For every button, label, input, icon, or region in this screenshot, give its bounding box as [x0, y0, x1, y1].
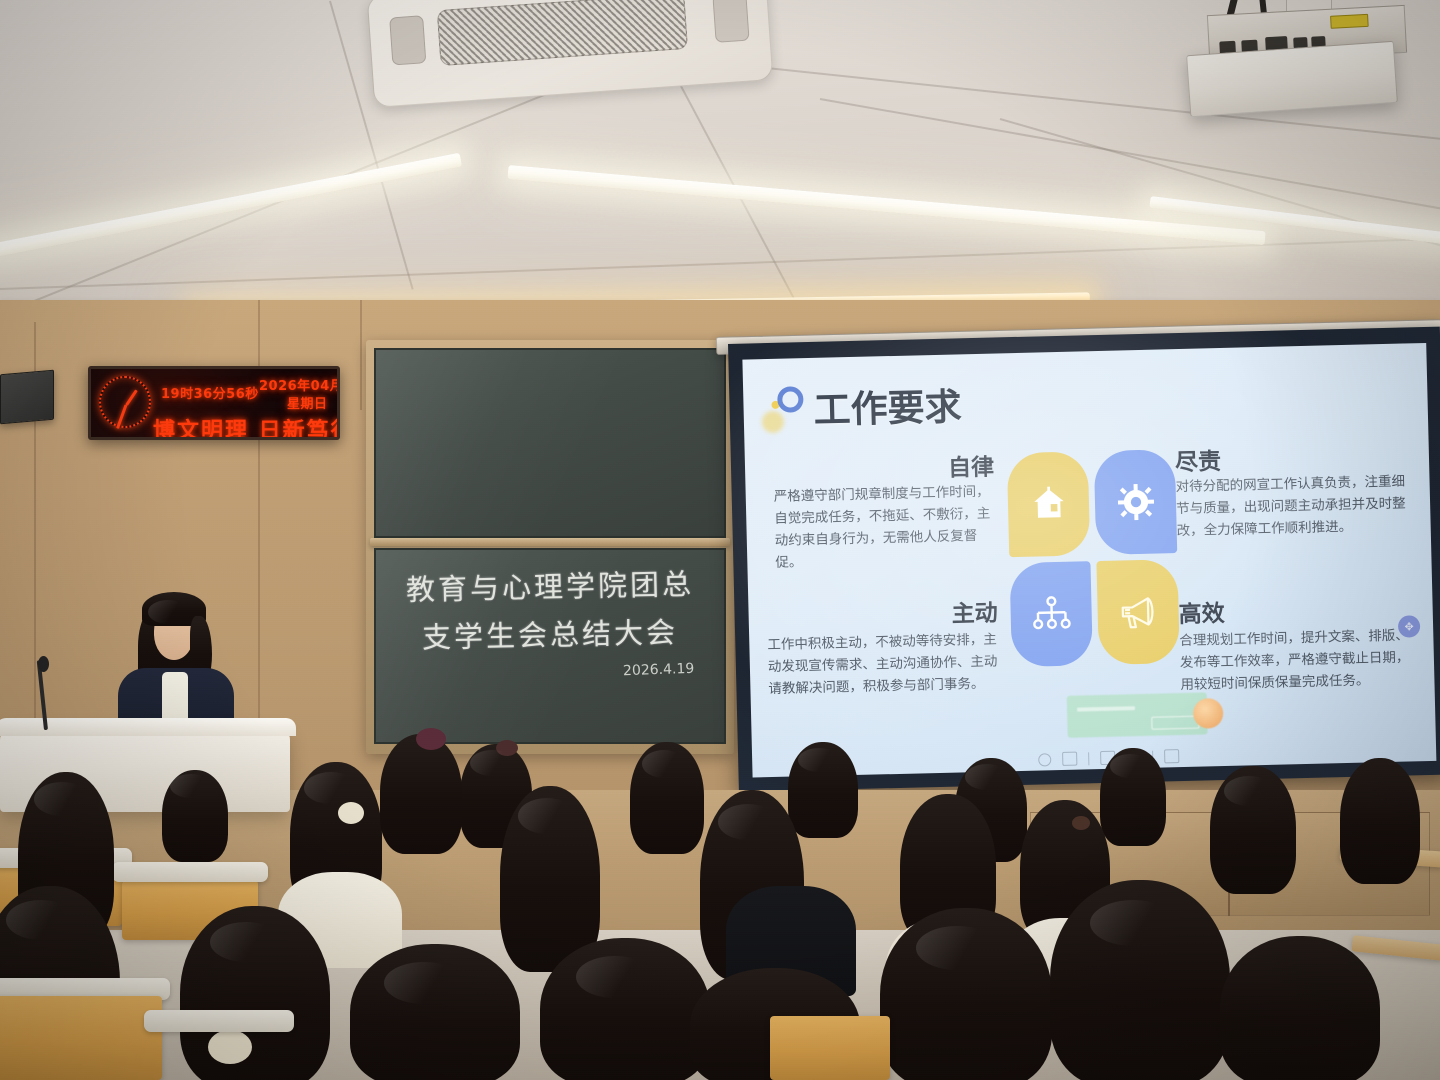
mascot-icon	[1193, 698, 1224, 729]
blackboard-date: 2026.4.19	[622, 661, 694, 679]
lecture-seat[interactable]	[770, 1016, 890, 1080]
exit-icon[interactable]	[1164, 749, 1179, 763]
quadrant-house	[1007, 451, 1091, 557]
gear-icon	[1115, 482, 1156, 523]
wall-speaker	[0, 370, 54, 425]
section-body-gaoxiao: 合理规划工作时间，提升文案、排版、发布等工作效率，严格遵守截止日期，用较短时间保…	[1179, 625, 1419, 696]
seat-rail	[144, 1010, 294, 1032]
microphone-head-icon	[38, 656, 49, 672]
analog-clock-icon	[99, 376, 151, 428]
toast-action-button[interactable]	[1151, 716, 1199, 730]
quadrant-hierarchy	[1009, 561, 1093, 667]
projection-screen-frame: 工作要求 自律 严格遵守部门规章制度与工作时间，自觉完成任务，不拖延、不敷衍，主…	[728, 327, 1440, 792]
chalk-rail	[370, 538, 730, 546]
laser-pointer-icon[interactable]	[1062, 752, 1077, 766]
blackboard-line-1: 教育与心理学院团总	[376, 560, 725, 609]
lecture-seat[interactable]	[0, 996, 162, 1080]
hair-clip	[1072, 816, 1090, 830]
led-date: 2026年04月19日	[259, 375, 340, 394]
blackboard-upper	[374, 348, 726, 538]
lecture-hall-photo: 19时36分56秒 2026年04月19日 星期日 博文明理 日新笃行 教育与心…	[0, 0, 1440, 1080]
title-decor-dot	[762, 411, 785, 434]
section-body-zilv: 严格遵守部门规章制度与工作时间，自觉完成任务，不拖延、不敷衍，主动约束自身行为，…	[774, 481, 1004, 574]
led-time: 19时36分56秒	[161, 383, 259, 402]
section-heading-jinze: 尽责	[1175, 442, 1222, 477]
quadrant-gear	[1094, 449, 1178, 555]
title-ring-icon	[777, 386, 804, 413]
seat-rail	[112, 862, 268, 882]
projector-warning-label	[1330, 14, 1369, 29]
slide-title: 工作要求	[813, 376, 962, 434]
hair-scrunchie	[416, 728, 446, 750]
section-heading-zilv: 自律	[948, 448, 995, 483]
blackboard-line-2: 支学生会总结大会	[376, 608, 725, 657]
led-motto: 博文明理 日新笃行	[153, 413, 340, 440]
pen-icon[interactable]	[1038, 753, 1051, 766]
section-body-zhudong: 工作中积极主动，不被动等待安排，主动发现宣传需求、主动沟通协作、主动请教解决问题…	[767, 629, 1007, 700]
section-heading-zhudong: 主动	[951, 593, 998, 628]
ceiling-ac-unit	[367, 0, 774, 108]
notification-toast	[1067, 692, 1208, 737]
ac-grille	[437, 0, 688, 66]
four-quadrant-graphic	[1007, 449, 1180, 667]
hair-scrunchie	[208, 1030, 252, 1064]
ceiling-light	[0, 153, 462, 262]
megaphone-icon	[1117, 593, 1160, 632]
house-icon	[1028, 484, 1069, 525]
hierarchy-icon	[1030, 594, 1073, 635]
blackboard-lower: 教育与心理学院团总 支学生会总结大会 2026.4.19	[374, 548, 726, 744]
quadrant-megaphone	[1096, 559, 1180, 665]
presentation-slide[interactable]: 工作要求 自律 严格遵守部门规章制度与工作时间，自觉完成任务，不拖延、不敷衍，主…	[742, 343, 1436, 778]
led-clock-board: 19时36分56秒 2026年04月19日 星期日 博文明理 日新笃行	[88, 366, 340, 440]
hair-scrunchie	[338, 802, 364, 824]
led-weekday: 星期日	[287, 393, 328, 412]
section-body-jinze: 对待分配的网宣工作认真负责，注重细节与质量，出现问题主动承担并及时整改，全力保障…	[1175, 471, 1413, 542]
section-heading-gaoxiao: 高效	[1178, 594, 1225, 629]
